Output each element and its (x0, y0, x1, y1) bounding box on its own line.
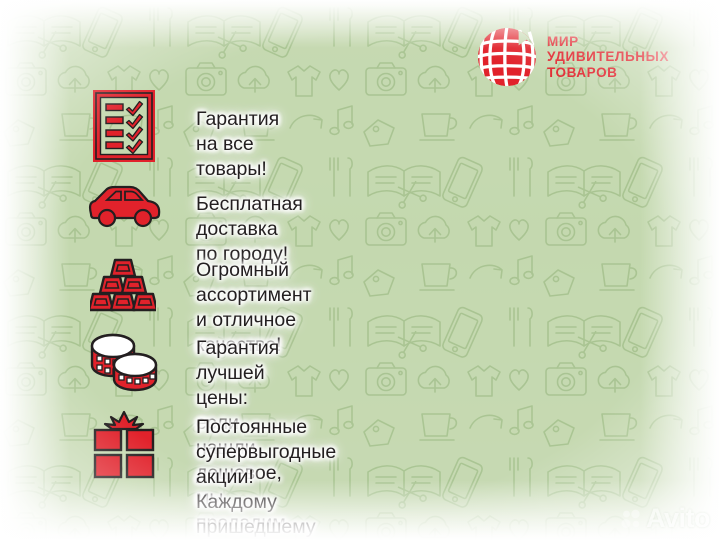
avito-wordmark: Avito (646, 505, 710, 532)
brand-line-3: Товаров (547, 65, 669, 81)
feature-line: Каждому пришедшему дарим подарки! (196, 490, 336, 540)
feature-line: Гарантия на все товары! (196, 107, 279, 182)
gold-bars-icon (90, 256, 156, 314)
car-icon (86, 184, 162, 230)
feature-line: Огромный ассортимент и отличное (196, 258, 312, 333)
brand-logo-text: Мир Удивительных Товаров (547, 34, 669, 81)
feature-text-promotions: Постоянные супервыгодные акции! Каждому … (196, 415, 336, 540)
feature-line: Постоянные супервыгодные акции! (196, 415, 336, 490)
brand-line-2: Удивительных (547, 49, 669, 65)
feature-line: Бесплатная доставка по городу! (196, 192, 303, 267)
brand-logo: Мир Удивительных Товаров (476, 26, 669, 88)
avito-watermark: Avito (621, 505, 710, 532)
gift-icon (92, 408, 156, 480)
rings-icon (87, 332, 161, 394)
promo-poster: Мир Удивительных Товаров (0, 0, 720, 540)
avito-dots-icon (621, 509, 641, 529)
red-globe-grid-icon (476, 26, 538, 88)
brand-line-1: Мир (547, 34, 669, 50)
checklist-icon (93, 90, 155, 162)
feature-text-guarantee: Гарантия на все товары! (196, 107, 279, 182)
feature-text-delivery: Бесплатная доставка по городу! (196, 192, 303, 267)
